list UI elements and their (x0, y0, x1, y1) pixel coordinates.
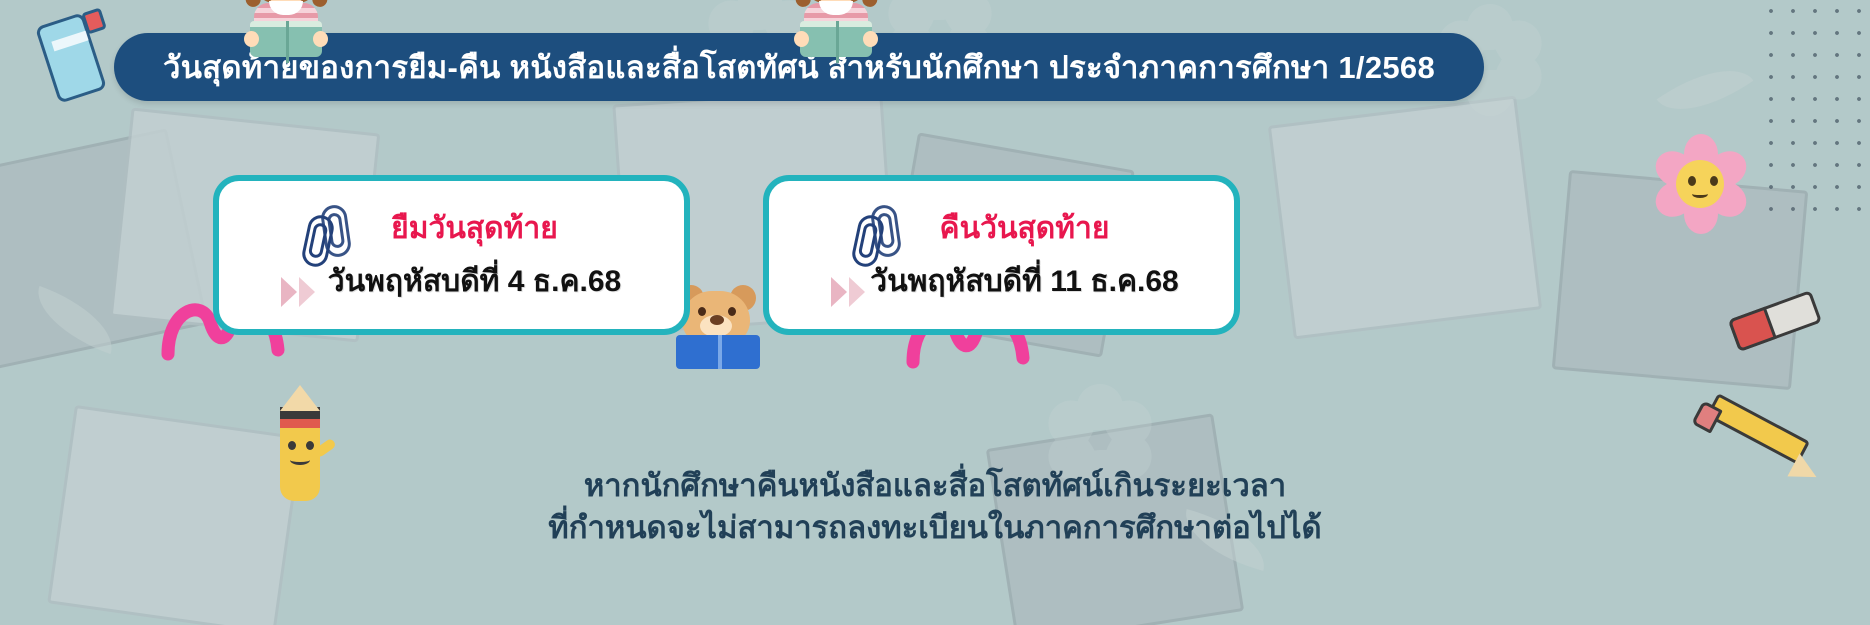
flower-mascot-icon (1648, 132, 1752, 236)
toothpaste-tube-icon (28, 6, 124, 116)
footnote-text: หากนักศึกษาคืนหนังสือและสื่อโสตทัศน์เกิน… (0, 465, 1870, 549)
background-leaf-icon (1657, 48, 1754, 132)
reading-girl-icon (238, 0, 334, 65)
card-return-deadline: คืนวันสุดท้าย วันพฤหัสบดีที่ 11 ธ.ค.68 (763, 175, 1240, 335)
chevron-right-icon (281, 277, 315, 307)
chevron-right-icon (831, 277, 865, 307)
footnote-line-1: หากนักศึกษาคืนหนังสือและสื่อโสตทัศน์เกิน… (0, 465, 1870, 507)
card-borrow-heading: ยืมวันสุดท้าย (391, 205, 558, 252)
dot-grid-icon (1760, 0, 1870, 220)
card-borrow-date: วันพฤหัสบดีที่ 4 ธ.ค.68 (328, 258, 621, 305)
background-book-icon (1268, 96, 1542, 340)
library-due-date-banner: วันสุดท้ายของการยืม-คืน หนังสือและสื่อโส… (0, 0, 1870, 625)
footnote-line-2: ที่กำหนดจะไม่สามารถลงทะเบียนในภาคการศึกษ… (0, 507, 1870, 549)
card-return-heading: คืนวันสุดท้าย (940, 205, 1110, 252)
card-return-date: วันพฤหัสบดีที่ 11 ธ.ค.68 (870, 258, 1178, 305)
reading-girl-icon (788, 0, 884, 65)
card-borrow-deadline: ยืมวันสุดท้าย วันพฤหัสบดีที่ 4 ธ.ค.68 (213, 175, 690, 335)
